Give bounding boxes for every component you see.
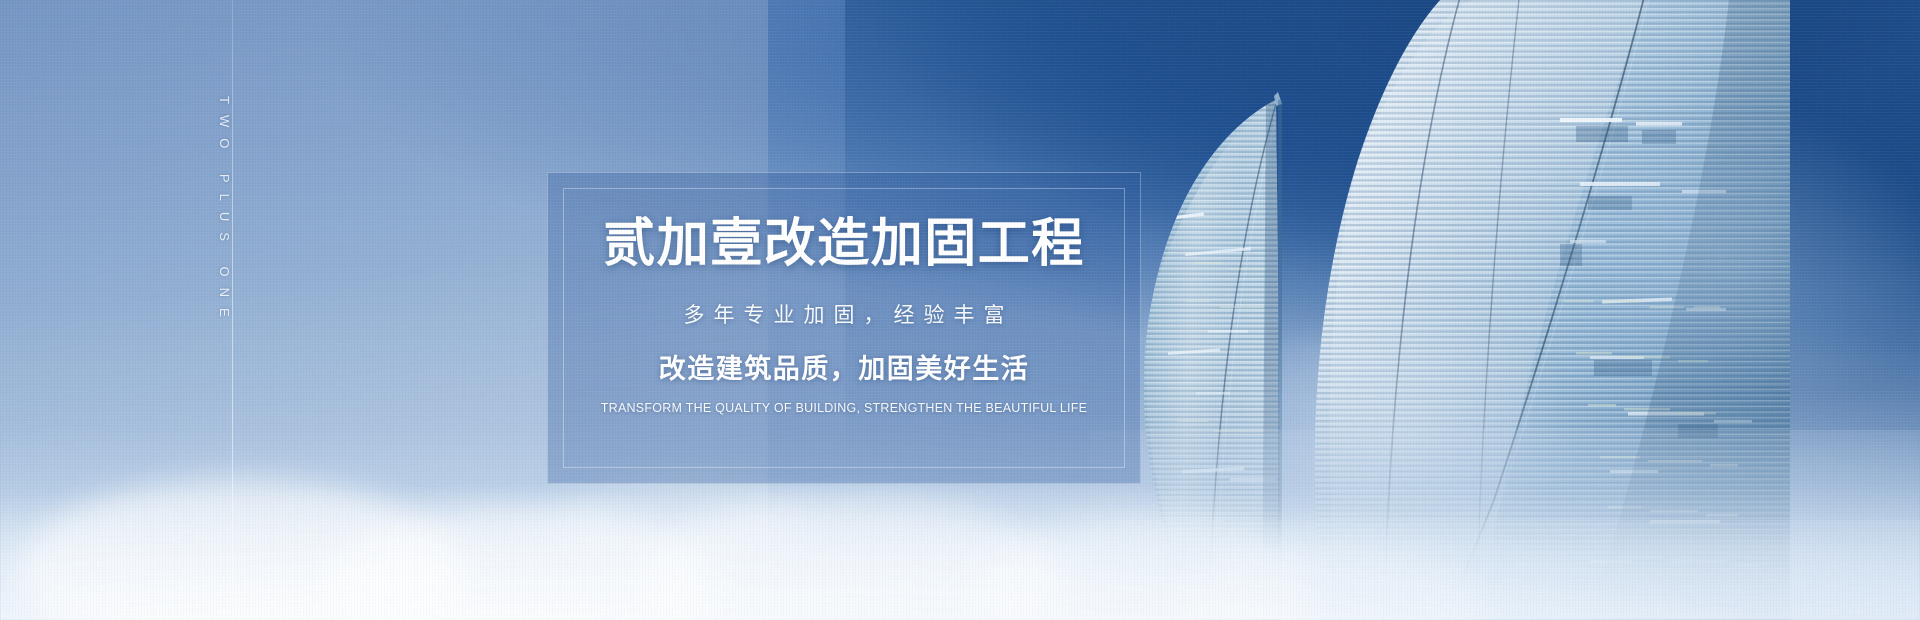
hero-banner: TWO PLUS ONE 1 贰加壹改造加固工程 多年专业加固，经验丰富 改造建…: [0, 0, 1920, 620]
tagline-chinese: 改造建筑品质，加固美好生活: [659, 356, 1030, 383]
cloud-puff: [560, 472, 810, 558]
corner-mark: 1: [220, 578, 232, 587]
tagline-english: TRANSFORM THE QUALITY OF BUILDING, STREN…: [601, 402, 1087, 415]
headline-box-content: 贰加壹改造加固工程 多年专业加固，经验丰富 改造建筑品质，加固美好生活 TRAN…: [548, 173, 1140, 483]
vertical-brand-text: TWO PLUS ONE: [217, 96, 232, 328]
page-title: 贰加壹改造加固工程: [603, 218, 1085, 270]
vertical-divider-line: [232, 0, 233, 620]
headline-text-box: 贰加壹改造加固工程 多年专业加固，经验丰富 改造建筑品质，加固美好生活 TRAN…: [547, 172, 1141, 484]
subtitle-spaced: 多年专业加固，经验丰富: [675, 305, 1014, 326]
